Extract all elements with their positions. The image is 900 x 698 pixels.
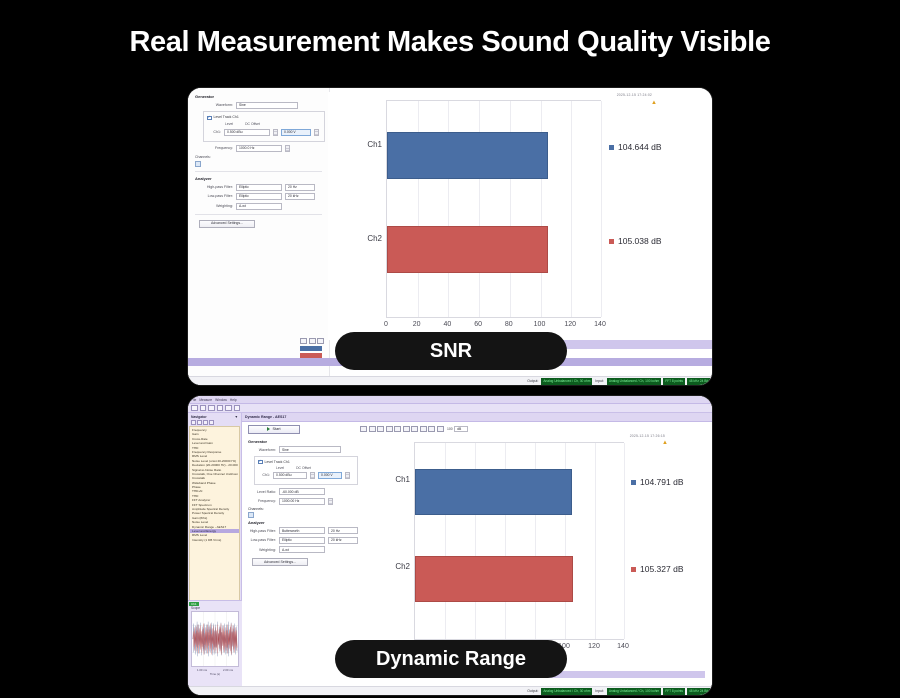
scope-waveform-plot xyxy=(191,611,239,667)
low-pass-row: Low-pass Filter: Elliptic 20 kHz xyxy=(193,193,324,200)
navigator-tree[interactable]: Frequency Gain Cross-Rate Level and Gain… xyxy=(189,426,240,620)
bar-ch2 xyxy=(387,226,548,273)
legend-ch2: 105.038 dB xyxy=(609,236,661,246)
chart-toolbar[interactable]: 100 dB xyxy=(360,426,468,432)
output-value: Analog Unbalanced / Ch, 30 ohm xyxy=(541,688,592,695)
scope-x-tick-0: 1.00 ms xyxy=(197,668,207,672)
weighting-select[interactable]: A-wt xyxy=(236,203,282,210)
level-ratio-label: Level Ratio: xyxy=(246,490,276,494)
stop-icon[interactable] xyxy=(234,405,241,412)
start-button-label: Start xyxy=(272,427,280,431)
checkbox-checked-icon: ✓ xyxy=(258,460,263,465)
level-ratio-row: Level Ratio: -60.000 dB xyxy=(246,488,364,495)
collapse-icon[interactable] xyxy=(197,420,202,425)
level-track-label: Level Track Ch1 xyxy=(214,115,239,120)
low-pass-select[interactable]: Elliptic xyxy=(279,537,325,544)
print-icon[interactable] xyxy=(217,405,224,412)
waveform-label: Waveform: xyxy=(246,448,276,452)
high-pass-label: High-pass Filter: xyxy=(193,185,233,190)
ch1-level-stepper[interactable] xyxy=(310,472,315,479)
weighting-label: Weighting: xyxy=(193,204,233,209)
weighting-select[interactable]: A-wt xyxy=(279,546,325,553)
scope-waveform-svg xyxy=(192,612,238,666)
weighting-row: Weighting: A-wt xyxy=(246,546,364,553)
frequency-label: Frequency: xyxy=(193,146,233,151)
snr-status-bar: Output: Analog Unbalanced / Ch, 30 ohm I… xyxy=(188,376,712,385)
output-label: Output: xyxy=(526,689,539,693)
high-pass-frequency-input[interactable]: 20 Hz xyxy=(285,184,315,191)
dynamic-range-chart: 2025-12-15 17:26:15 ▲ Ch1 Ch xyxy=(360,433,705,668)
x-tick-6: 120 xyxy=(588,643,600,650)
generator-group-title: Generator xyxy=(248,439,364,444)
level-columns-header: Level DC Offset xyxy=(207,122,321,127)
legend-swatch-ch2 xyxy=(609,239,614,244)
output-label: Output: xyxy=(526,379,539,383)
level-columns-header: Level DC Offset xyxy=(258,466,354,470)
ch1-level-row: Ch1: 0.500 dBu 0.000 V xyxy=(207,129,321,136)
ch1-dc-offset-stepper[interactable] xyxy=(345,472,350,479)
category-label-ch2: Ch2 xyxy=(348,234,382,243)
chart-export-icon[interactable] xyxy=(411,426,418,432)
filter-icon[interactable] xyxy=(209,420,214,425)
legend-color-strip xyxy=(300,346,322,358)
ch1-label: Ch1: xyxy=(258,473,270,477)
scope-x-tick-1: 2.00 ms xyxy=(223,668,233,672)
page-title: Real Measurement Makes Sound Quality Vis… xyxy=(0,0,900,84)
chart-zoom-out-icon[interactable] xyxy=(428,426,435,432)
menu-bar[interactable]: File Measure Window Help xyxy=(188,396,712,404)
legend-ch2: 105.327 dB xyxy=(631,564,683,574)
status-extra-2: 48 kHz 24 Bit xyxy=(687,378,710,385)
divider xyxy=(195,171,322,172)
x-tick-3: 60 xyxy=(474,321,482,328)
legend-strip-ch1 xyxy=(300,346,322,351)
legend-swatch-ch1 xyxy=(609,145,614,150)
waveform-row: Waveform: Sine xyxy=(246,446,364,453)
x-tick-7: 140 xyxy=(594,321,606,328)
high-pass-frequency-input[interactable]: 20 Hz xyxy=(328,527,358,534)
waveform-select[interactable]: Sine xyxy=(236,102,298,109)
weighting-label: Weighting: xyxy=(246,548,276,552)
ch1-dc-offset-stepper[interactable] xyxy=(314,129,319,136)
channels-toggle-icon[interactable] xyxy=(248,512,254,518)
checkbox-checked-icon: ✓ xyxy=(207,116,212,121)
low-pass-select[interactable]: Elliptic xyxy=(236,193,282,200)
open-folder-icon[interactable] xyxy=(200,405,207,412)
low-pass-frequency-input[interactable]: 20 kHz xyxy=(285,193,315,200)
scope-x-axis-label: Time (s) xyxy=(210,672,220,676)
bar-ch1 xyxy=(387,132,548,179)
chart-reset-icon[interactable] xyxy=(437,426,444,432)
waveform-label: Waveform: xyxy=(193,103,233,108)
scope-title: Scope xyxy=(189,606,241,610)
frequency-input[interactable]: 1000.00 Hz xyxy=(279,498,325,505)
zoom-in-icon[interactable] xyxy=(300,338,307,344)
divider xyxy=(195,214,322,215)
refresh-icon[interactable] xyxy=(203,420,208,425)
low-pass-frequency-input[interactable]: 20 kHz xyxy=(328,537,358,544)
output-value: Analog Unbalanced / Ch, 30 ohm xyxy=(541,378,592,385)
generator-group-title: Generator xyxy=(195,94,324,100)
advanced-settings-button[interactable]: Advanced Settings... xyxy=(252,558,308,566)
ch1-level-input[interactable]: 0.500 dBu xyxy=(273,472,307,479)
cursor-icon[interactable] xyxy=(317,338,324,344)
save-icon[interactable] xyxy=(208,405,215,412)
snr-chart: 2025-12-15 17:24:02 ▲ Ch1 Ch2 0 xyxy=(328,92,708,340)
main-toolbar[interactable] xyxy=(188,404,712,413)
level-column-label: Level xyxy=(225,122,233,127)
window-title: Dynamic Range - AES17 xyxy=(245,415,286,419)
channels-label: Channels: xyxy=(248,507,364,511)
legend-value-ch2: 105.327 dB xyxy=(640,564,683,574)
input-value: Analog Unbalanced / Ch, 100 kohm xyxy=(607,378,661,385)
high-pass-select[interactable]: Butterworth xyxy=(279,527,325,534)
input-label: Input: xyxy=(594,379,604,383)
x-tick-1: 20 xyxy=(413,321,421,328)
dc-offset-column-label: DC Offset xyxy=(296,466,311,470)
category-label-ch2: Ch2 xyxy=(378,562,410,571)
scope-x-axis-label-wrap: Time (s) xyxy=(189,672,241,676)
chart-cursor-icon[interactable] xyxy=(403,426,410,432)
ch1-dc-offset-input[interactable]: 0.000 V xyxy=(281,129,311,136)
ch1-level-stepper[interactable] xyxy=(273,129,278,136)
chart-grid-icon[interactable] xyxy=(386,426,393,432)
warning-icon: ▲ xyxy=(662,440,669,446)
plot-area xyxy=(414,442,624,640)
chart-type-line-icon[interactable] xyxy=(369,426,376,432)
warning-icon: ▲ xyxy=(651,100,658,106)
legend-value-ch1: 104.644 dB xyxy=(618,142,661,152)
scope-pane: Ch1 Scope 1. xyxy=(188,600,242,686)
menu-item-measure[interactable]: Measure xyxy=(199,398,212,402)
frequency-label: Frequency: xyxy=(246,499,276,503)
level-box: ✓ Level Track Ch1 Level DC Offset Ch1: 0… xyxy=(203,111,325,142)
chart-fit-icon[interactable] xyxy=(377,426,384,432)
advanced-settings-button[interactable]: Advanced Settings... xyxy=(199,220,255,228)
category-label-ch1: Ch1 xyxy=(348,140,382,149)
waveform-row: Waveform: Sine xyxy=(193,102,324,109)
expand-icon[interactable] xyxy=(191,420,196,425)
legend-swatch-ch1 xyxy=(631,480,636,485)
analyzer-group-title: Analyzer xyxy=(195,176,324,182)
level-ratio-input[interactable]: -60.000 dB xyxy=(279,488,325,495)
analyzer-group-title: Analyzer xyxy=(248,520,364,525)
chart-legend-icon[interactable] xyxy=(394,426,401,432)
level-track-checkbox[interactable]: ✓ Level Track Ch1 xyxy=(258,460,354,465)
high-pass-row: High-pass Filter: Elliptic 20 Hz xyxy=(193,184,324,191)
chart-timestamp: 2025-12-15 17:26:15 xyxy=(630,434,665,438)
ch1-dc-offset-input[interactable]: 0.000 V xyxy=(318,472,342,479)
navigator-title-text: Navigator xyxy=(191,415,207,419)
ch1-label: Ch1: xyxy=(207,130,221,135)
channels-toggle-icon[interactable] xyxy=(195,161,201,167)
low-pass-label: Low-pass Filter: xyxy=(246,538,276,542)
category-label-ch1: Ch1 xyxy=(378,475,410,484)
low-pass-row: Low-pass Filter: Elliptic 20 kHz xyxy=(246,537,364,544)
x-tick-5: 100 xyxy=(534,321,546,328)
poster-root: Real Measurement Makes Sound Quality Vis… xyxy=(0,0,900,698)
level-track-label: Level Track Ch1 xyxy=(265,460,290,464)
frequency-row: Frequency: 1000.0 Hz xyxy=(193,145,324,152)
window-title-bar: Dynamic Range - AES17 xyxy=(242,413,712,422)
chart-timestamp: 2025-12-15 17:24:02 xyxy=(617,93,652,97)
channels-label: Channels: xyxy=(195,155,324,160)
menu-item-file[interactable]: File xyxy=(191,398,196,402)
unit-select[interactable]: dB xyxy=(454,426,468,432)
input-value: Analog Unbalanced / Ch, 100 kohm xyxy=(607,688,661,695)
zoom-out-icon[interactable] xyxy=(309,338,316,344)
x-tick-6: 120 xyxy=(564,321,576,328)
dc-offset-column-label: DC Offset xyxy=(245,122,260,127)
start-button[interactable]: Start xyxy=(248,425,300,434)
frequency-row: Frequency: 1000.00 Hz xyxy=(246,498,364,505)
list-item[interactable]: Intensity (1 DB Vrms) xyxy=(190,538,239,542)
x-tick-4: 80 xyxy=(505,321,513,328)
pin-icon[interactable]: ▼ xyxy=(235,415,238,419)
status-extra-1: FFT 8 points xyxy=(663,688,685,695)
legend-value-ch2: 105.038 dB xyxy=(618,236,661,246)
level-track-checkbox[interactable]: ✓ Level Track Ch1 xyxy=(207,115,321,120)
zoom-value: 100 xyxy=(447,427,453,431)
waveform-select[interactable]: Sine xyxy=(279,446,341,453)
high-pass-select[interactable]: Elliptic xyxy=(236,184,282,191)
x-tick-2: 40 xyxy=(443,321,451,328)
chart-type-bar-icon[interactable] xyxy=(360,426,367,432)
frequency-stepper[interactable] xyxy=(285,145,290,152)
list-item[interactable]: Deviation (20-20000 Hz) - 20.000 xyxy=(190,463,239,467)
legend-ch1: 104.644 dB xyxy=(609,142,661,152)
legend-swatch-ch2 xyxy=(631,567,636,572)
chart-zoom-in-icon[interactable] xyxy=(420,426,427,432)
plot-area xyxy=(386,100,601,318)
dr-settings-pane: Generator Waveform: Sine ✓ Level Track C… xyxy=(246,437,364,566)
level-column-label: Level xyxy=(276,466,284,470)
x-tick-0: 0 xyxy=(384,321,388,328)
legend-value-ch1: 104.791 dB xyxy=(640,477,683,487)
new-file-icon[interactable] xyxy=(191,405,198,412)
ch1-level-row: Ch1: 0.500 dBu 0.000 V xyxy=(258,472,354,479)
snr-badge: SNR xyxy=(335,332,567,370)
frequency-input[interactable]: 1000.0 Hz xyxy=(236,145,282,152)
weighting-row: Weighting: A-wt xyxy=(193,203,324,210)
low-pass-label: Low-pass Filter: xyxy=(193,194,233,199)
chart-toolbar[interactable] xyxy=(300,338,324,344)
frequency-stepper[interactable] xyxy=(328,498,333,505)
play-icon xyxy=(267,427,270,431)
level-box: ✓ Level Track Ch1 Level DC Offset Ch1: 0… xyxy=(254,456,358,486)
legend-ch1: 104.791 dB xyxy=(631,477,683,487)
high-pass-label: High-pass Filter: xyxy=(246,529,276,533)
run-icon[interactable] xyxy=(225,405,232,412)
high-pass-row: High-pass Filter: Butterworth 20 Hz xyxy=(246,527,364,534)
status-extra-1: FFT 8 points xyxy=(663,378,685,385)
x-tick-7: 140 xyxy=(617,643,629,650)
input-label: Input: xyxy=(594,689,604,693)
dr-status-bar: Output: Analog Unbalanced / Ch, 30 ohm I… xyxy=(188,686,712,695)
menu-item-window[interactable]: Window xyxy=(215,398,227,402)
menu-item-help[interactable]: Help xyxy=(230,398,237,402)
status-extra-2: 48 kHz 24 Bit xyxy=(687,688,710,695)
bar-ch2 xyxy=(415,556,573,602)
dynamic-range-badge: Dynamic Range xyxy=(335,640,567,678)
bar-ch1 xyxy=(415,469,572,515)
ch1-level-input[interactable]: 0.500 dBu xyxy=(224,129,270,136)
